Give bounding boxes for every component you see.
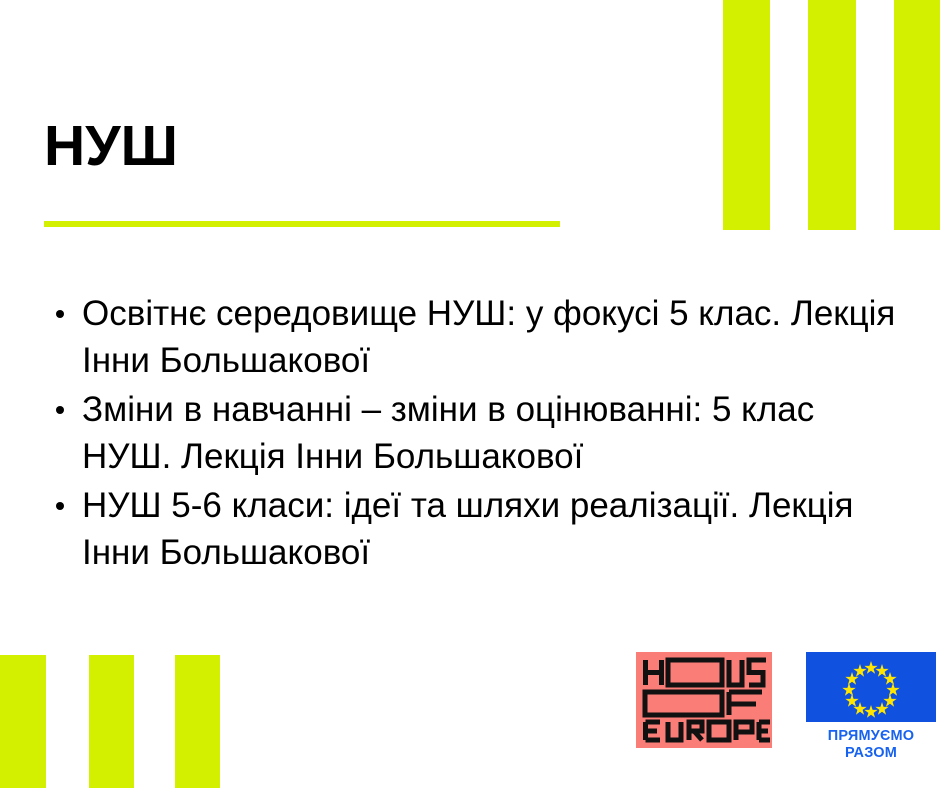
list-item: Зміни в навчанні – зміни в оцінюванні: 5… bbox=[44, 386, 904, 480]
house-of-europe-logo bbox=[636, 652, 772, 748]
list-item: Освітнє середовище НУШ: у фокусі 5 клас.… bbox=[44, 290, 904, 384]
eu-caption-line-2: РАЗОМ bbox=[806, 745, 936, 762]
decor-bar-top-right-2 bbox=[808, 0, 856, 230]
eu-emblem: ПРЯМУЄМО РАЗОМ bbox=[806, 652, 940, 770]
decor-bar-bottom-left-2 bbox=[89, 655, 134, 788]
bullet-dot-icon bbox=[56, 310, 64, 318]
bullet-list: Освітнє середовище НУШ: у фокусі 5 клас.… bbox=[44, 290, 904, 578]
eu-flag-icon bbox=[806, 652, 936, 722]
eu-caption-line-1: ПРЯМУЄМО bbox=[806, 728, 936, 745]
title-underline-rule bbox=[44, 221, 560, 227]
presentation-slide: НУШ Освітнє середовище НУШ: у фокусі 5 к… bbox=[0, 0, 940, 788]
decor-bar-top-right-1 bbox=[723, 0, 770, 230]
list-item-text: Зміни в навчанні – зміни в оцінюванні: 5… bbox=[82, 390, 814, 476]
list-item: НУШ 5-6 класи: ідеї та шляхи реалізації.… bbox=[44, 482, 904, 576]
slide-title: НУШ bbox=[44, 114, 178, 180]
eu-emblem-caption: ПРЯМУЄМО РАЗОМ bbox=[806, 728, 936, 762]
decor-bar-top-right-3 bbox=[894, 0, 940, 230]
bullet-dot-icon bbox=[56, 406, 64, 414]
house-of-europe-wordmark-icon bbox=[636, 652, 772, 748]
list-item-text: НУШ 5-6 класи: ідеї та шляхи реалізації.… bbox=[82, 486, 854, 572]
decor-bar-bottom-left-3 bbox=[175, 655, 220, 788]
decor-bar-bottom-left-1 bbox=[0, 655, 46, 788]
bullet-dot-icon bbox=[56, 502, 64, 510]
list-item-text: Освітнє середовище НУШ: у фокусі 5 клас.… bbox=[82, 294, 895, 380]
